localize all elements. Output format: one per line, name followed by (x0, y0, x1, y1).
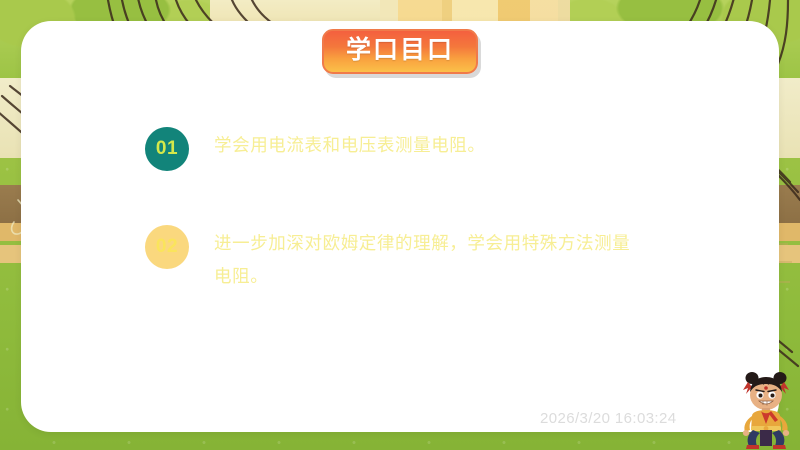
page-title: 学口目口 (346, 38, 454, 63)
bullet-number-badge: 02 (145, 225, 189, 269)
list-item: 02 进一步加深对欧姆定律的理解，学会用特殊方法测量电阻。 (145, 223, 645, 293)
bullet-text: 进一步加深对欧姆定律的理解，学会用特殊方法测量电阻。 (214, 223, 645, 293)
bullet-number-badge: 01 (145, 127, 189, 171)
bullet-text: 学会用电流表和电压表测量电阻。 (214, 125, 645, 162)
bullet-number: 01 (156, 138, 178, 160)
list-item: 01 学会用电流表和电压表测量电阻。 (145, 125, 645, 171)
nezha-mascot-icon (734, 368, 798, 450)
slide-root: 学口目口 01 学会用电流表和电压表测量电阻。 02 进一步加深对欧姆定律的理解… (0, 0, 800, 450)
timestamp-label: 2026/3/20 16:03:24 (540, 410, 677, 427)
slide-title-badge: 学口目口 (322, 29, 478, 74)
objectives-list: 01 学会用电流表和电压表测量电阻。 02 进一步加深对欧姆定律的理解，学会用特… (145, 125, 645, 345)
bullet-number: 02 (156, 236, 178, 258)
